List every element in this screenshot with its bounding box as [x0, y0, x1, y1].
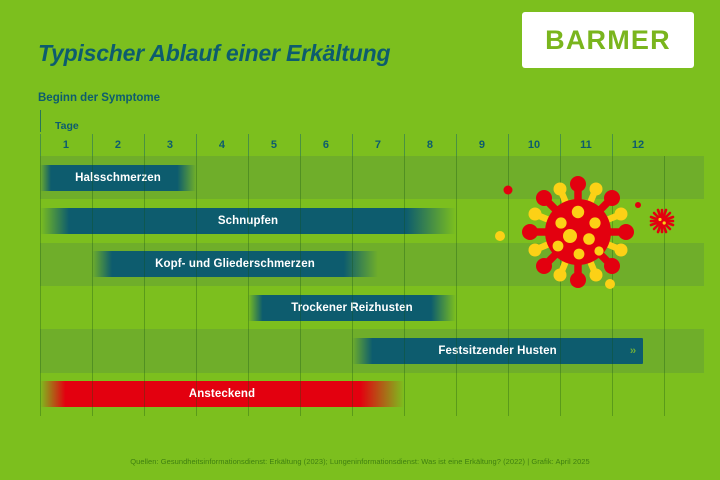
grid-line [248, 156, 249, 416]
grid-line [612, 156, 613, 416]
logo-text: BARMER [545, 25, 671, 56]
barmer-logo: BARMER [522, 12, 694, 68]
day-label-6: 6 [306, 139, 346, 151]
grid-line [352, 156, 353, 416]
grid-line [456, 156, 457, 416]
day-tick [456, 134, 457, 156]
day-tick [92, 134, 93, 156]
day-tick [248, 134, 249, 156]
grid-line [196, 156, 197, 416]
day-tick [144, 134, 145, 156]
bar-kopf-und-gliederschmerzen[interactable]: Kopf- und Gliederschmerzen [92, 251, 378, 277]
bar-ansteckend[interactable]: Ansteckend [40, 381, 404, 407]
bar-halsschmerzen[interactable]: Halsschmerzen [40, 165, 196, 191]
plot-area: HalsschmerzenSchnupfenKopf- und Glieders… [40, 156, 704, 416]
grid-line [144, 156, 145, 416]
grid-line [664, 156, 665, 416]
grid-line [92, 156, 93, 416]
day-label-4: 4 [202, 139, 242, 151]
bar-label: Kopf- und Gliederschmerzen [145, 258, 325, 270]
source-footer: Quellen: Gesundheitsinformationsdienst: … [0, 457, 720, 466]
symptom-start-label: Beginn der Symptome [38, 92, 160, 104]
day-label-1: 1 [46, 139, 86, 151]
day-label-10: 10 [514, 139, 554, 151]
day-tick [196, 134, 197, 156]
grid-line [560, 156, 561, 416]
day-label-5: 5 [254, 139, 294, 151]
day-tick [40, 134, 41, 156]
page-title: Typischer Ablauf einer Erkältung [38, 40, 390, 67]
day-axis: 123456789101112 [40, 134, 704, 156]
day-tick [352, 134, 353, 156]
day-label-9: 9 [462, 139, 502, 151]
day-label-7: 7 [358, 139, 398, 151]
day-label-12: 12 [618, 139, 658, 151]
day-tick [300, 134, 301, 156]
grid-line [508, 156, 509, 416]
infographic-page: Typischer Ablauf einer Erkältung BARMER … [0, 0, 720, 480]
day-label-3: 3 [150, 139, 190, 151]
axis-title-days: Tage [55, 120, 79, 132]
day-tick [508, 134, 509, 156]
day-label-11: 11 [566, 139, 606, 151]
symptom-start-tick [40, 110, 41, 132]
bar-label: Ansteckend [179, 388, 265, 400]
day-label-8: 8 [410, 139, 450, 151]
grid-line [40, 156, 41, 416]
grid-line [300, 156, 301, 416]
bar-label: Festsitzender Husten [428, 345, 566, 357]
day-label-2: 2 [98, 139, 138, 151]
bar-continues-arrow-icon: ›› [630, 345, 635, 357]
timeline-chart: 123456789101112 HalsschmerzenSchnupfenKo… [40, 134, 704, 416]
bar-label: Halsschmerzen [65, 172, 171, 184]
day-tick [612, 134, 613, 156]
day-tick [404, 134, 405, 156]
day-tick [560, 134, 561, 156]
grid-line [404, 156, 405, 416]
bar-festsitzender-husten[interactable]: Festsitzender Husten›› [352, 338, 643, 364]
